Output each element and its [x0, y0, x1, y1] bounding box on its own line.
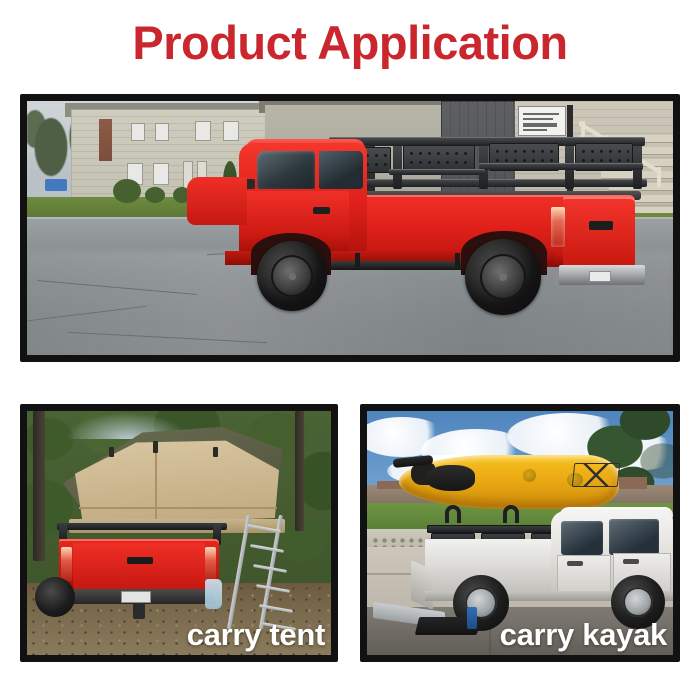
tree-trunk [295, 411, 304, 531]
shrub [113, 179, 141, 203]
front-door-handle [623, 559, 639, 564]
kayak-hatch [523, 469, 536, 482]
rear-door [557, 555, 611, 593]
rack-top-rail [427, 525, 563, 533]
front-hub [289, 273, 296, 280]
rear-window [319, 151, 363, 189]
tailgate-handle [127, 557, 153, 564]
carry-tent-scene: carry tent [27, 411, 331, 655]
plastic-bag [205, 579, 222, 609]
house-window [131, 123, 145, 141]
carry-tent-caption: carry tent [187, 617, 325, 653]
red-pickup-truck-rear [39, 523, 229, 631]
bed-rack [329, 135, 647, 199]
carry-kayak-caption: carry kayak [500, 617, 667, 653]
license-plate [121, 591, 151, 603]
carry-tent-photo: carry tent [27, 411, 331, 655]
red-pickup-truck [165, 129, 645, 339]
tail-light-left [61, 547, 72, 581]
kayak-cockpit [425, 465, 475, 491]
page-title: Product Application [0, 14, 700, 72]
rack-kayak-hook [503, 505, 519, 523]
rear-door-window [561, 521, 603, 555]
tailgate [73, 543, 205, 589]
step-bracket [355, 253, 360, 267]
rack-base-rail-left [329, 179, 647, 187]
tent-zipper [213, 447, 218, 457]
blue-jack [467, 607, 477, 629]
carry-kayak-photo-frame: carry kayak [360, 404, 680, 662]
rear-door-handle [567, 561, 583, 566]
kayak-bungee-cross [573, 463, 619, 487]
truck-hood [187, 177, 247, 225]
carry-kayak-scene: carry kayak [367, 411, 673, 655]
hero-photo [27, 101, 673, 355]
tail-light [551, 207, 565, 247]
carry-kayak-photo: carry kayak [367, 411, 673, 655]
tailgate-handle [589, 221, 613, 230]
hero-photo-frame [20, 94, 680, 362]
rack-kayak-hook [445, 505, 461, 523]
rack-cross-member [389, 169, 485, 175]
chimney [99, 119, 112, 161]
tent-zipper [153, 441, 158, 453]
carry-tent-photo-frame: carry tent [20, 404, 338, 662]
hero-photo-scene [27, 101, 673, 355]
blue-tarp [45, 179, 67, 191]
rear-wheel [35, 577, 75, 617]
tail-light-right [205, 547, 216, 581]
rack-panel-holes [407, 149, 471, 169]
trailer-hitch [133, 603, 145, 619]
product-application-page: Product Application [0, 0, 700, 700]
shrub [145, 187, 165, 203]
bed-rack-top [57, 523, 227, 530]
rear-hub [499, 273, 507, 281]
front-rim [623, 587, 653, 617]
tent-seam [79, 507, 277, 509]
front-window [257, 151, 315, 189]
door-handle [313, 207, 330, 214]
step-bracket [455, 253, 460, 267]
tent-seam [155, 443, 157, 523]
rack-upright [393, 141, 402, 189]
tailgate [563, 197, 635, 267]
license-plate [589, 271, 611, 282]
tent-ladder [241, 515, 301, 631]
front-door-window [609, 519, 659, 555]
tent-zipper [109, 447, 114, 457]
rack-cross-member [479, 163, 643, 170]
